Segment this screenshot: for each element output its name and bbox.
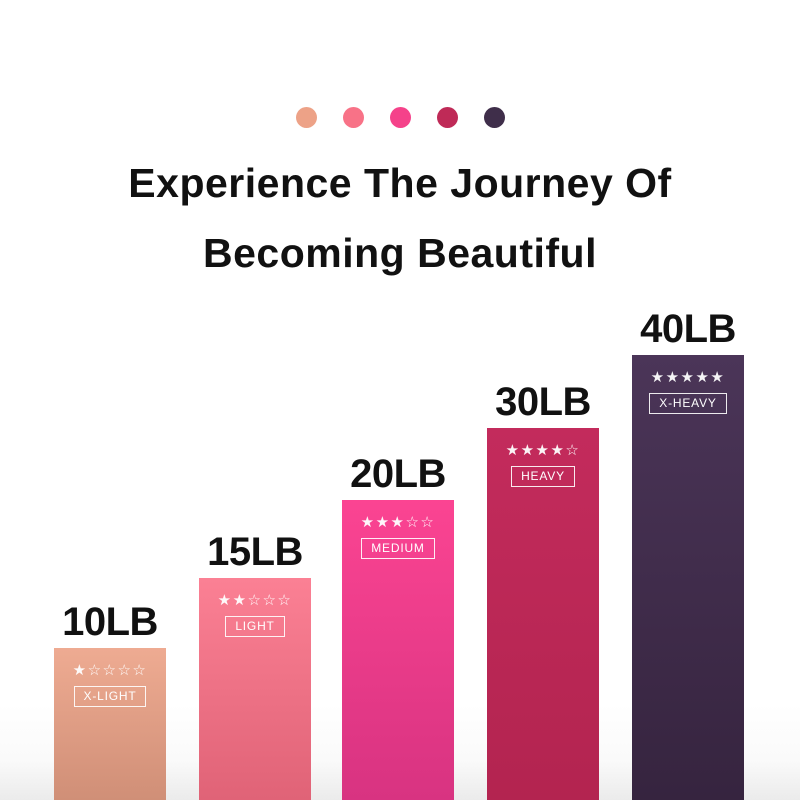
tier-badge: LIGHT (225, 616, 284, 637)
bar-value-label: 20LB (350, 454, 446, 494)
bar-value-label: 15LB (207, 532, 303, 572)
tier-badge: HEAVY (511, 466, 575, 487)
bar-group-x-heavy[interactable]: 40LB★★★★★X-HEAVY (632, 355, 744, 800)
bar-heavy[interactable]: ★★★★☆HEAVY (487, 428, 599, 800)
bar-value-label: 30LB (495, 382, 591, 422)
bar-value-label: 10LB (62, 602, 158, 642)
star-rating: ★★★★☆ (506, 443, 581, 458)
bar-group-x-light[interactable]: 10LB★☆☆☆☆X-LIGHT (54, 648, 166, 800)
bar-group-heavy[interactable]: 30LB★★★★☆HEAVY (487, 428, 599, 800)
tier-badge: X-LIGHT (74, 686, 147, 707)
bar-x-light[interactable]: ★☆☆☆☆X-LIGHT (54, 648, 166, 800)
bar-group-light[interactable]: 15LB★★☆☆☆LIGHT (199, 578, 311, 800)
bar-value-label: 40LB (640, 309, 736, 349)
star-rating: ★☆☆☆☆ (73, 663, 148, 678)
tier-badge: MEDIUM (361, 538, 434, 559)
bar-group-medium[interactable]: 20LB★★★☆☆MEDIUM (342, 500, 454, 800)
tier-badge: X-HEAVY (649, 393, 726, 414)
bar-light[interactable]: ★★☆☆☆LIGHT (199, 578, 311, 800)
resistance-bar-chart: 10LB★☆☆☆☆X-LIGHT15LB★★☆☆☆LIGHT20LB★★★☆☆M… (0, 0, 800, 800)
poster-canvas: Experience The Journey Of Becoming Beaut… (0, 0, 800, 800)
bar-x-heavy[interactable]: ★★★★★X-HEAVY (632, 355, 744, 800)
star-rating: ★★☆☆☆ (218, 593, 293, 608)
star-rating: ★★★☆☆ (361, 515, 436, 530)
star-rating: ★★★★★ (651, 370, 726, 385)
bar-medium[interactable]: ★★★☆☆MEDIUM (342, 500, 454, 800)
